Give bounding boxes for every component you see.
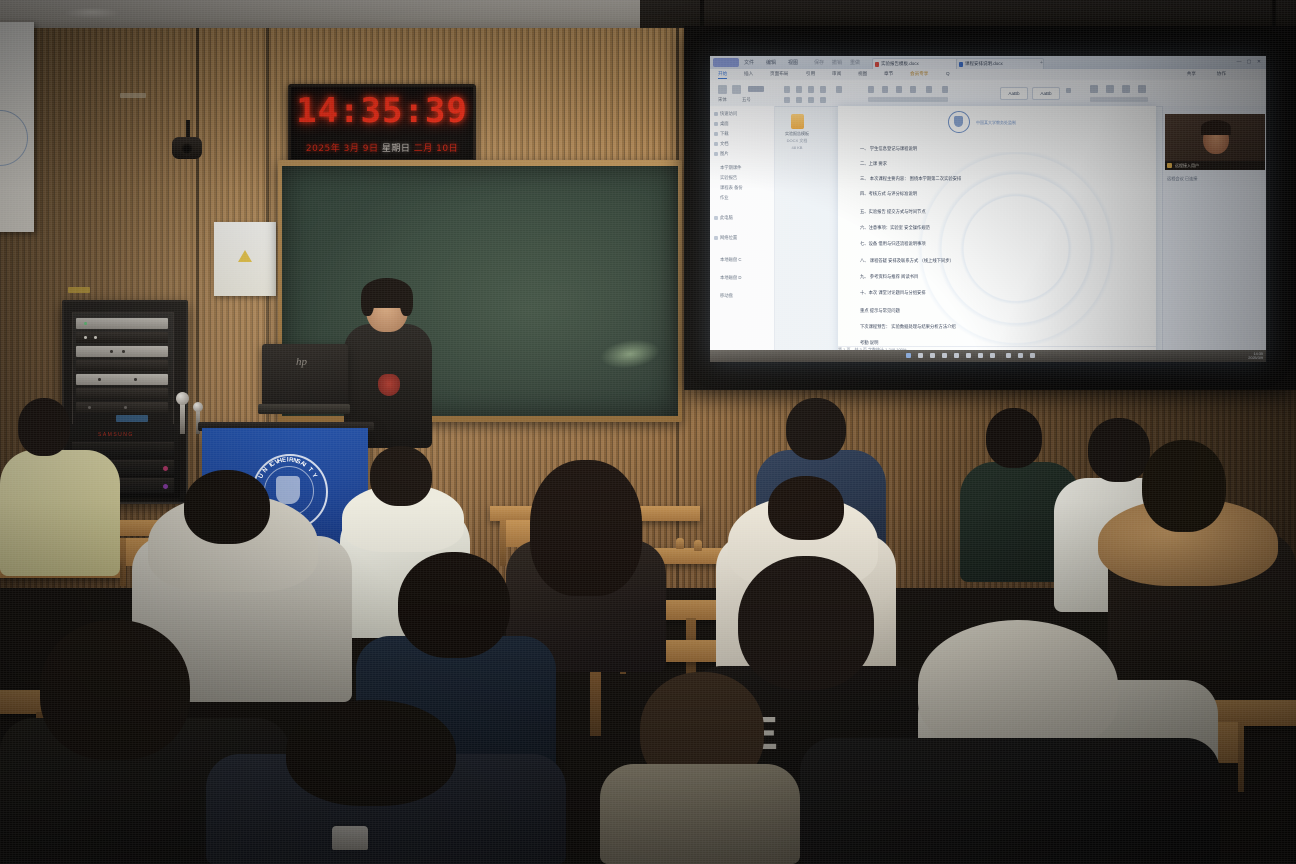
rack-label <box>68 287 90 293</box>
ribbon-labels-row <box>1090 97 1148 102</box>
water-bottle-cap <box>332 826 368 850</box>
align-right-icon[interactable] <box>808 97 814 103</box>
italic-icon[interactable] <box>796 86 802 93</box>
wall-poster <box>0 22 34 232</box>
bold-icon[interactable] <box>784 86 790 93</box>
align-left-icon[interactable] <box>784 97 790 103</box>
rack-unit <box>76 318 168 329</box>
doc-tab-icon <box>875 62 879 67</box>
style-heading-button[interactable]: AaBb <box>1032 87 1060 100</box>
document-tab[interactable]: 实验报告模板.docx <box>872 58 960 69</box>
app-title-bar: 文件 编辑 视图 保存 撤销 重做 实验报告模板.docx 课程安排说明.doc… <box>710 56 1266 69</box>
rack-unit <box>76 360 168 371</box>
ribbon-tab-home[interactable]: 开始 <box>718 71 727 79</box>
file-explorer-sidebar: 快速访问 桌面 下载 文档 图片 本学期课件 实验报告 课程表 备份 作业 此电… <box>710 106 775 362</box>
clock-lunar-month: 二月 <box>414 144 433 154</box>
doc-line: 二、上课 要求 <box>860 161 887 167</box>
video-thumbnail[interactable]: 远程接入用户 <box>1165 114 1265 170</box>
sidebar-item-pictures[interactable]: 图片 <box>714 150 729 157</box>
sidebar-item-quick-access[interactable]: 快速访问 <box>714 110 737 117</box>
taskbar-start-icon[interactable] <box>906 353 911 358</box>
ceiling-speaker <box>62 8 122 18</box>
menu-view[interactable]: 视图 <box>788 59 798 67</box>
replace-icon[interactable] <box>1106 85 1114 93</box>
ribbon-tab-review[interactable]: 审阅 <box>832 71 841 77</box>
align-center-icon[interactable] <box>796 97 802 103</box>
sidebar-item-removable[interactable]: 移动盘 <box>720 292 733 299</box>
ribbon-tab-view[interactable]: 视图 <box>858 71 867 77</box>
wps-logo-icon[interactable] <box>713 58 739 67</box>
quicktool-undo[interactable]: 撤销 <box>832 59 842 67</box>
underline-icon[interactable] <box>808 86 814 93</box>
bullet-list-icon[interactable] <box>868 86 874 93</box>
search-icon[interactable]: Q <box>946 71 950 76</box>
doc-line: 八、 课程答疑 安排及联系方式 （线上线下同步） <box>860 258 954 264</box>
laptop-base <box>258 404 350 414</box>
doc-line: 下次课程预告： 实验数据处理与结果分析方法介绍 <box>860 324 956 330</box>
sidebar-item-disk-d[interactable]: 本地磁盘 D <box>720 274 741 281</box>
format-painter-icon[interactable] <box>748 86 764 92</box>
clock-time: 14:35:39 <box>291 91 473 131</box>
minimize-icon[interactable]: — <box>1236 59 1242 65</box>
word-document-icon <box>791 114 804 129</box>
sidebar-item-documents[interactable]: 文档 <box>714 140 729 147</box>
taskbar-explorer-icon[interactable] <box>930 353 935 358</box>
chevron-down-icon[interactable] <box>1066 88 1071 93</box>
mic-icon <box>1167 163 1172 168</box>
select-icon[interactable] <box>1122 85 1130 93</box>
file-card-meta: DOCX 文档 <box>782 138 812 143</box>
taskbar-clock[interactable]: 14:35 2025/3/9 <box>1248 352 1263 361</box>
sidebar-item-homework[interactable]: 作业 <box>720 194 729 201</box>
microphone <box>180 400 185 434</box>
ribbon-tab-section[interactable]: 章节 <box>884 71 893 77</box>
participant-hair <box>1201 120 1231 135</box>
paste-icon[interactable] <box>718 85 727 94</box>
doc-line: 重点 提示与常见问题 <box>860 308 900 314</box>
ribbon-collab-button[interactable]: 协作 <box>1217 71 1226 77</box>
sidebar-item-disk-c[interactable]: 本地磁盘 C <box>720 256 741 263</box>
poster-emblem-icon <box>0 110 28 166</box>
document-tab[interactable]: 课程安排说明.docx <box>956 58 1044 69</box>
quicktool-save[interactable]: 保存 <box>814 59 824 67</box>
font-name-label[interactable]: 宋体 <box>718 97 727 103</box>
student <box>206 700 566 864</box>
font-size-label[interactable]: 五号 <box>742 97 751 103</box>
taskbar-search-icon[interactable] <box>918 353 923 358</box>
taskbar-mail-icon[interactable] <box>966 353 971 358</box>
clock-date: 2025年 3月 9日 星期日 二月 10日 <box>291 141 473 154</box>
participant-name-bar: 远程接入用户 <box>1165 161 1265 170</box>
warning-triangle-icon <box>238 250 252 262</box>
participant-name: 远程接入用户 <box>1175 163 1199 169</box>
presenter-hair-side <box>400 286 413 316</box>
ribbon-tab-member[interactable]: 会员专享 <box>910 71 928 77</box>
student <box>0 392 120 572</box>
ribbon-toolbar: 宋体 五号 AaBb AaBb <box>710 80 1266 107</box>
student <box>600 672 800 864</box>
ribbon-share-button[interactable]: 共享 <box>1187 71 1196 77</box>
clock-lunar-day: 10日 <box>436 144 458 154</box>
file-card-name: 实验报告模板 <box>782 131 812 136</box>
student <box>800 700 1220 864</box>
rack-display <box>116 415 148 422</box>
ribbon-row-two <box>868 97 948 102</box>
doc-tab-icon <box>959 62 963 67</box>
new-tab-button[interactable]: + <box>1040 59 1043 67</box>
shading-icon[interactable] <box>942 86 948 93</box>
borders-icon[interactable] <box>926 86 932 93</box>
find-icon[interactable] <box>1090 85 1098 93</box>
document-tab-label: 课程安排说明.docx <box>965 61 1003 66</box>
presenter-hair-side <box>361 286 374 316</box>
cut-icon[interactable] <box>732 85 741 94</box>
sidebar-item-network[interactable]: 网络位置 <box>714 234 737 241</box>
sidebar-item-courseware[interactable]: 本学期课件 <box>720 164 741 171</box>
taskbar-settings-icon[interactable] <box>990 353 995 358</box>
sidebar-item-lab-reports[interactable]: 实验报告 <box>720 174 737 181</box>
tools-icon[interactable] <box>1138 85 1146 93</box>
justify-icon[interactable] <box>820 97 826 103</box>
document-text-body: 一、 学生信息登记与课程说明 二、上课 要求 三、 本次课程主要内容： 围绕本学… <box>838 106 1156 362</box>
rack-unit <box>76 346 168 357</box>
led-wall-clock: 14:35:39 2025年 3月 9日 星期日 二月 10日 <box>288 84 476 162</box>
maximize-icon[interactable]: ▢ <box>1246 59 1252 65</box>
projection-screen[interactable]: 文件 编辑 视图 保存 撤销 重做 实验报告模板.docx 课程安排说明.doc… <box>710 56 1266 362</box>
taskbar-browser-icon[interactable] <box>942 353 947 358</box>
sidebar-item-downloads[interactable]: 下载 <box>714 130 729 137</box>
strikethrough-icon[interactable] <box>820 86 826 93</box>
video-conference-panel[interactable]: 远程接入用户 远程会议 已连接 <box>1162 106 1266 362</box>
chair-knob <box>676 538 684 549</box>
sidebar-item-desktop[interactable]: 桌面 <box>714 120 729 127</box>
video-panel-caption: 远程会议 已连接 <box>1167 176 1197 182</box>
clock-year: 2025年 <box>306 144 340 154</box>
doc-line: 一、 学生信息登记与课程说明 <box>860 146 917 152</box>
clock-weekday: 星期日 <box>382 144 411 154</box>
lecture-hall-photo: 14:35:39 2025年 3月 9日 星期日 二月 10日 文件 编辑 视图… <box>0 0 1296 864</box>
ribbon-tab-refs[interactable]: 引用 <box>806 71 815 77</box>
file-card[interactable]: 实验报告模板 DOCX 文档 48 KB <box>782 114 812 148</box>
style-normal-button[interactable]: AaBb <box>1000 87 1028 100</box>
ceiling-camera-icon <box>172 137 202 159</box>
taskbar-volume-icon[interactable] <box>1030 353 1035 358</box>
taskbar-clock-date: 2025/3/9 <box>1248 356 1263 361</box>
file-card-size: 48 KB <box>782 145 812 150</box>
line-spacing-icon[interactable] <box>910 86 916 93</box>
laptop-screen <box>262 344 348 406</box>
ribbon-tab-layout[interactable]: 页面布局 <box>770 71 788 77</box>
document-tab-label: 实验报告模板.docx <box>881 61 919 66</box>
font-color-icon[interactable] <box>836 86 842 93</box>
doc-line: 五、实验报告 提交方式与时间节点 <box>860 209 926 215</box>
taskbar-network-icon[interactable] <box>1018 353 1023 358</box>
ribbon-tab-insert[interactable]: 插入 <box>744 71 753 77</box>
doc-line: 四、考核方式 与评分标准说明 <box>860 191 917 197</box>
menu-edit[interactable]: 编辑 <box>766 59 776 67</box>
doc-line: 九、 参考资料与推荐 阅读书目 <box>860 274 918 280</box>
windows-taskbar[interactable]: 14:35 2025/3/9 <box>710 350 1266 362</box>
quicktool-redo[interactable]: 重做 <box>850 59 860 67</box>
doc-line: 七、设备 借用与归还流程说明事项 <box>860 241 926 247</box>
sidebar-item-timetable-backup[interactable]: 课程表 备份 <box>720 184 743 191</box>
rack-unit <box>76 374 168 385</box>
indent-icon[interactable] <box>896 86 902 93</box>
clock-day: 9日 <box>363 144 379 154</box>
taskbar-wps-icon[interactable] <box>954 353 959 358</box>
laptop-brand-logo: hp <box>296 356 307 368</box>
taskbar-tray-icon[interactable] <box>1006 353 1011 358</box>
sidebar-item-this-pc[interactable]: 此电脑 <box>714 214 733 221</box>
clock-month: 3月 <box>344 144 360 154</box>
doc-line: 三、 本次课程主要内容： 围绕本学期第二次实验安排 <box>860 176 961 182</box>
doc-line: 十、本次 课堂讨论题目与分组安排 <box>860 290 926 296</box>
wall-plate <box>120 93 146 98</box>
presenter-shirt-graphic <box>378 374 400 396</box>
taskbar-meeting-icon[interactable] <box>978 353 983 358</box>
doc-line: 六、注意事项：实验室 安全操作规范 <box>860 225 930 231</box>
chair-knob <box>694 540 702 551</box>
rack-unit <box>76 332 168 343</box>
warning-sign <box>214 222 276 296</box>
menu-file[interactable]: 文件 <box>744 59 754 67</box>
number-list-icon[interactable] <box>882 86 888 93</box>
close-icon[interactable]: ✕ <box>1256 59 1262 65</box>
